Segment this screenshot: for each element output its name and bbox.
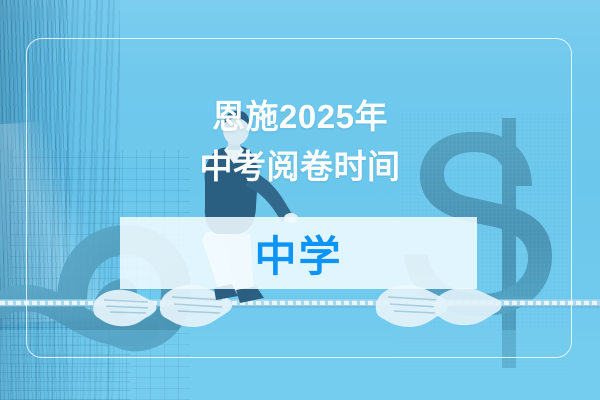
banner-card: 恩施2025年 中考阅卷时间 中学 bbox=[0, 0, 600, 400]
label-strip-text: 中学 bbox=[120, 217, 477, 289]
tightrope-icon bbox=[0, 303, 600, 307]
headline: 恩施2025年 中考阅卷时间 bbox=[0, 92, 600, 192]
headline-line-1: 恩施2025年 bbox=[0, 92, 600, 142]
decorative-artwork bbox=[0, 0, 600, 400]
headline-line-2: 中考阅卷时间 bbox=[0, 142, 600, 192]
